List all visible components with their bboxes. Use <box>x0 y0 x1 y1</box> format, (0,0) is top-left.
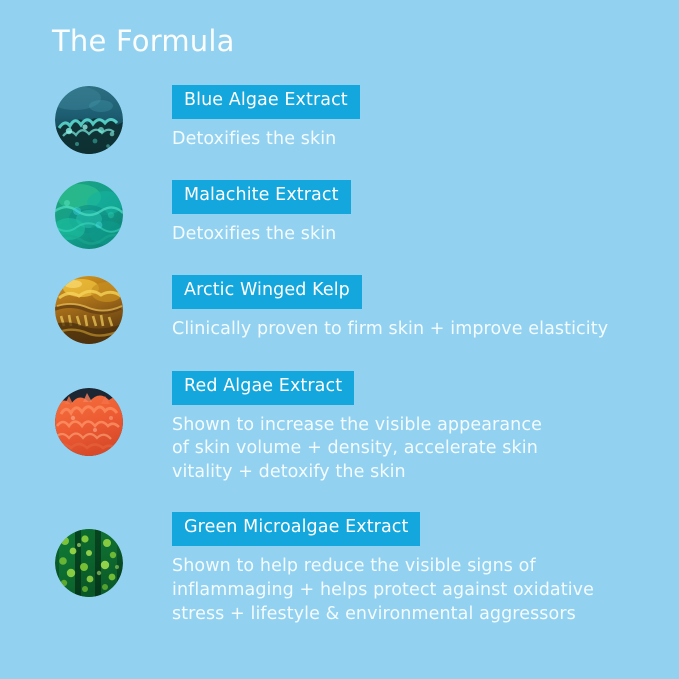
green-microalgae-thumbnail <box>55 529 123 597</box>
thumbnail-container <box>55 366 123 456</box>
page-title: The Formula <box>52 24 235 59</box>
thumbnail-container <box>55 80 123 154</box>
ingredient-description: Detoxifies the skin <box>172 128 360 152</box>
ingredient-name-badge: Malachite Extract <box>172 180 351 214</box>
malachite-thumbnail <box>55 181 123 249</box>
red-algae-thumbnail <box>55 388 123 456</box>
ingredient-list: Blue Algae Extract Detoxifies the skin <box>0 80 679 627</box>
ingredient-row: Malachite Extract Detoxifies the skin <box>0 175 679 257</box>
ingredient-row: Blue Algae Extract Detoxifies the skin <box>0 80 679 162</box>
thumbnail-container <box>55 507 123 597</box>
ingredient-name-badge: Arctic Winged Kelp <box>172 275 362 309</box>
ingredient-row: Arctic Winged Kelp Clinically proven to … <box>0 270 679 352</box>
ingredient-description: Clinically proven to firm skin + improve… <box>172 318 608 342</box>
formula-infographic: The Formula <box>0 0 679 679</box>
ingredient-description: Detoxifies the skin <box>172 223 351 247</box>
ingredient-description: Shown to help reduce the visible signs o… <box>172 555 594 627</box>
thumbnail-container <box>55 270 123 344</box>
ingredient-name-badge: Blue Algae Extract <box>172 85 360 119</box>
ingredient-body: Arctic Winged Kelp Clinically proven to … <box>172 270 608 341</box>
ingredient-row: Green Microalgae Extract Shown to help r… <box>0 507 679 626</box>
ingredient-description: Shown to increase the visible appearance… <box>172 414 542 486</box>
ingredient-body: Malachite Extract Detoxifies the skin <box>172 175 351 246</box>
ingredient-row: Red Algae Extract Shown to increase the … <box>0 366 679 485</box>
ingredient-body: Red Algae Extract Shown to increase the … <box>172 366 542 485</box>
ingredient-name-badge: Green Microalgae Extract <box>172 512 420 546</box>
ingredient-name-badge: Red Algae Extract <box>172 371 354 405</box>
ingredient-body: Blue Algae Extract Detoxifies the skin <box>172 80 360 151</box>
blue-algae-thumbnail <box>55 86 123 154</box>
arctic-winged-kelp-thumbnail <box>55 276 123 344</box>
thumbnail-container <box>55 175 123 249</box>
ingredient-body: Green Microalgae Extract Shown to help r… <box>172 507 594 626</box>
